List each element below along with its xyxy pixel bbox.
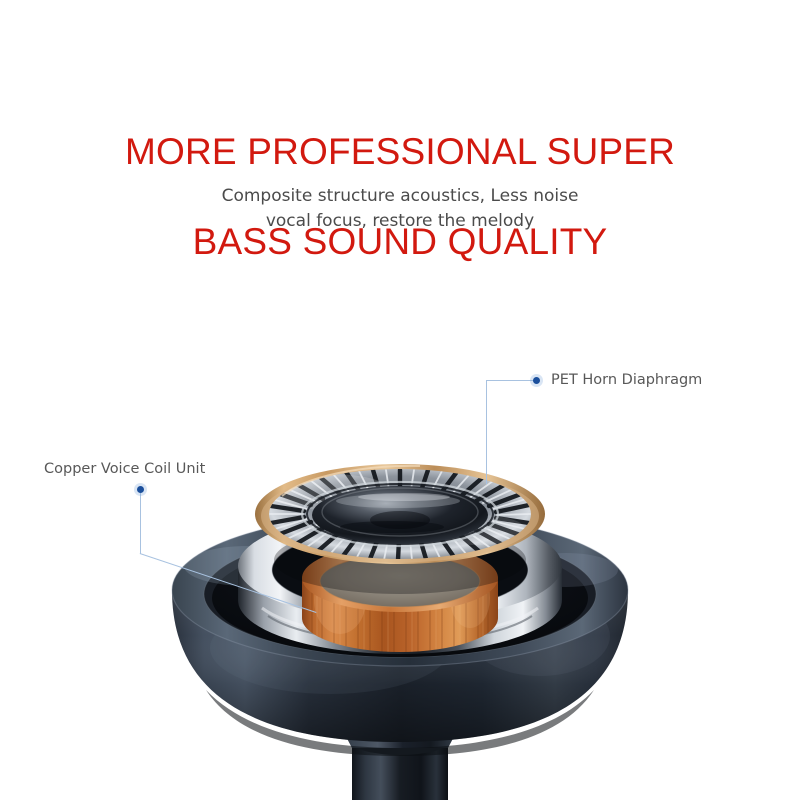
callout-coil-marker-dot [137, 486, 144, 493]
callout-pet-marker-dot [533, 377, 540, 384]
callout-coil-leader-vertical [140, 493, 141, 554]
headline-line-1: MORE PROFESSIONAL SUPER [0, 129, 800, 174]
chrome-suspension-ring [238, 512, 562, 654]
driver-stem [330, 687, 470, 800]
subtitle-line-1: Composite structure acoustics, Less nois… [0, 184, 800, 209]
callout-copper-voice-coil-label: Copper Voice Coil Unit [44, 460, 205, 478]
diaphragm-ribs [268, 470, 530, 560]
driver-housing-bowl [172, 514, 628, 756]
subtitle-line-2: vocal focus, restore the melody [0, 209, 800, 234]
copper-voice-coil [302, 544, 498, 662]
callout-coil-leader-diagonal [140, 553, 317, 613]
callout-pet-leader-vertical [486, 380, 487, 484]
callout-pet-leader-horizontal [486, 380, 534, 381]
pet-horn-diaphragm [255, 464, 545, 594]
page-subtitle: Composite structure acoustics, Less nois… [0, 184, 800, 234]
callout-pet-horn-diaphragm-label: PET Horn Diaphragm [551, 371, 702, 389]
product-banner: MORE PROFESSIONAL SUPER BASS SOUND QUALI… [0, 0, 800, 800]
